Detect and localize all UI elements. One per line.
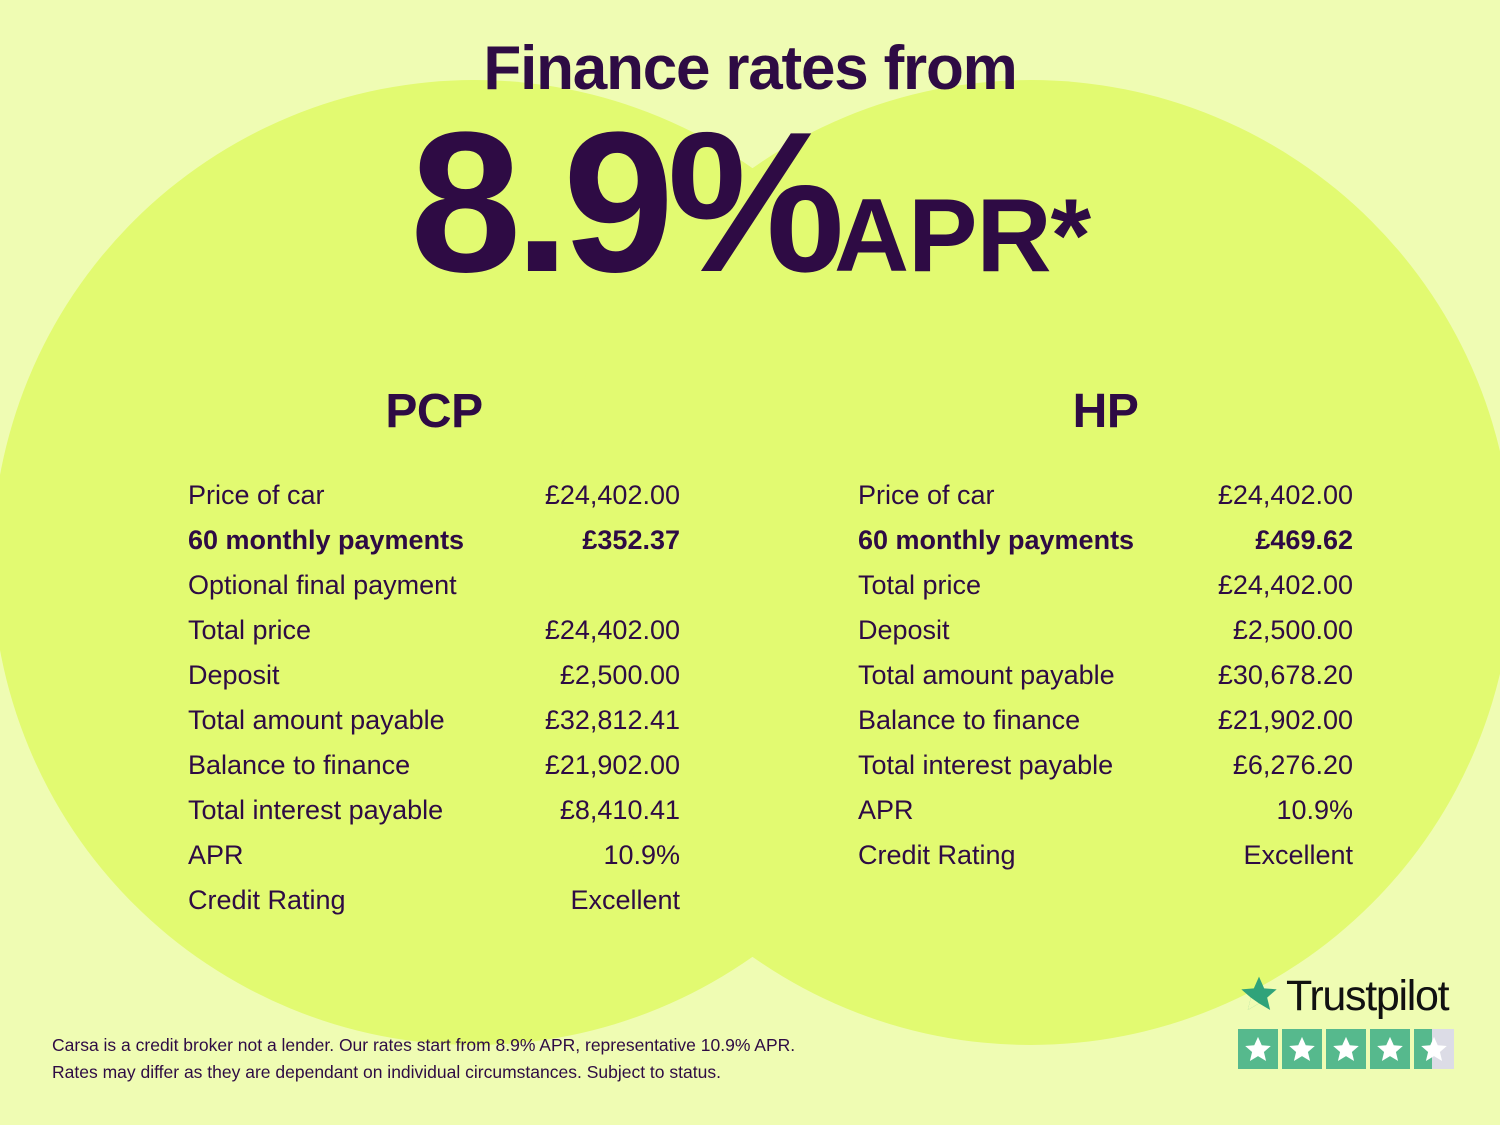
plan-column-hp: HP Price of car£24,402.0060 monthly paym…: [858, 388, 1353, 885]
plan-row-label: Deposit: [858, 615, 950, 646]
plan-row-label: Total price: [858, 570, 981, 601]
plan-row-label: Total interest payable: [858, 750, 1113, 781]
trustpilot-stars: [1238, 1029, 1456, 1069]
headline-block: Finance rates from 8.9%APR*: [0, 0, 1500, 303]
plan-row-label: 60 monthly payments: [858, 525, 1134, 556]
plan-row-value: £469.62: [1255, 525, 1353, 556]
disclaimer-line-2: Rates may differ as they are dependant o…: [52, 1059, 872, 1086]
plan-title-hp: HP: [858, 388, 1353, 436]
trustpilot-star-icon: [1414, 1029, 1454, 1069]
plan-row: Price of car£24,402.00: [858, 480, 1353, 525]
plan-row-value: 10.9%: [603, 840, 680, 871]
plan-row-label: APR: [858, 795, 914, 826]
disclaimer-line-1: Carsa is a credit broker not a lender. O…: [52, 1032, 872, 1059]
plan-row-label: Balance to finance: [188, 750, 410, 781]
plan-title-pcp: PCP: [188, 388, 680, 436]
headline-rate-line: 8.9%APR*: [0, 103, 1500, 303]
trustpilot-wordmark: Trustpilot: [1238, 972, 1456, 1020]
plan-row-value: £24,402.00: [1218, 570, 1353, 601]
plan-row-value: £21,902.00: [1218, 705, 1353, 736]
trustpilot-star-icon: [1238, 1029, 1278, 1069]
plan-row: Total amount payable£30,678.20: [858, 660, 1353, 705]
plan-row: Total interest payable£8,410.41: [188, 795, 680, 840]
plan-row-label: Optional final payment: [188, 570, 457, 601]
plan-row: Total amount payable£32,812.41: [188, 705, 680, 750]
plan-row: Credit RatingExcellent: [188, 885, 680, 930]
trustpilot-star-icon: [1238, 974, 1280, 1019]
plan-row: Deposit£2,500.00: [188, 660, 680, 705]
plan-row-label: Balance to finance: [858, 705, 1080, 736]
apr-rate-number: 8.9%: [410, 91, 838, 314]
plan-row-label: Deposit: [188, 660, 280, 691]
trustpilot-star-icon: [1282, 1029, 1322, 1069]
page-title: Finance rates from 8.9%APR*: [0, 0, 1500, 303]
plan-row-value: £30,678.20: [1218, 660, 1353, 691]
plan-row-value: £24,402.00: [1218, 480, 1353, 511]
plan-row: Total price£24,402.00: [188, 615, 680, 660]
plan-row: Optional final payment: [188, 570, 680, 615]
plan-row: Total price£24,402.00: [858, 570, 1353, 615]
plan-row: APR10.9%: [858, 795, 1353, 840]
plan-column-pcp: PCP Price of car£24,402.0060 monthly pay…: [188, 388, 680, 930]
plan-row-label: Price of car: [188, 480, 325, 511]
plan-row-label: Credit Rating: [188, 885, 346, 916]
plan-rows-hp: Price of car£24,402.0060 monthly payment…: [858, 480, 1353, 885]
plan-row-label: APR: [188, 840, 244, 871]
plan-row: Balance to finance£21,902.00: [188, 750, 680, 795]
plan-row-value: £6,276.20: [1233, 750, 1353, 781]
plan-row-label: 60 monthly payments: [188, 525, 464, 556]
plan-row: Deposit£2,500.00: [858, 615, 1353, 660]
trustpilot-star-icon: [1326, 1029, 1366, 1069]
plan-row-value: £24,402.00: [545, 615, 680, 646]
plan-row-value: Excellent: [1243, 840, 1353, 871]
apr-asterisk: *: [1051, 178, 1090, 294]
plan-row: Credit RatingExcellent: [858, 840, 1353, 885]
plan-row-value: £21,902.00: [545, 750, 680, 781]
plan-row-label: Credit Rating: [858, 840, 1016, 871]
plan-row-value: £2,500.00: [560, 660, 680, 691]
plan-row-value: Excellent: [570, 885, 680, 916]
trustpilot-star-icon: [1370, 1029, 1410, 1069]
plan-row-value: £2,500.00: [1233, 615, 1353, 646]
plan-row-label: Price of car: [858, 480, 995, 511]
plan-row: Price of car£24,402.00: [188, 480, 680, 525]
disclaimer-text: Carsa is a credit broker not a lender. O…: [52, 1032, 872, 1086]
apr-rate-suffix: APR: [834, 178, 1051, 294]
plan-row: APR10.9%: [188, 840, 680, 885]
plan-row-value: £32,812.41: [545, 705, 680, 736]
plan-row-label: Total amount payable: [858, 660, 1115, 691]
finance-rates-graphic: Finance rates from 8.9%APR* PCP Price of…: [0, 0, 1500, 1125]
plan-row-label: Total interest payable: [188, 795, 443, 826]
plan-row: 60 monthly payments£352.37: [188, 525, 680, 570]
plan-row: Total interest payable£6,276.20: [858, 750, 1353, 795]
plan-row: 60 monthly payments£469.62: [858, 525, 1353, 570]
trustpilot-name: Trustpilot: [1286, 975, 1448, 1018]
plan-row-label: Total price: [188, 615, 311, 646]
trustpilot-rating: Trustpilot: [1238, 972, 1456, 1069]
plan-row-value: £352.37: [582, 525, 680, 556]
plan-row-label: Total amount payable: [188, 705, 445, 736]
plan-row-value: £24,402.00: [545, 480, 680, 511]
plan-row: Balance to finance£21,902.00: [858, 705, 1353, 750]
plan-row-value: £8,410.41: [560, 795, 680, 826]
plan-row-value: 10.9%: [1276, 795, 1353, 826]
plan-rows-pcp: Price of car£24,402.0060 monthly payment…: [188, 480, 680, 930]
